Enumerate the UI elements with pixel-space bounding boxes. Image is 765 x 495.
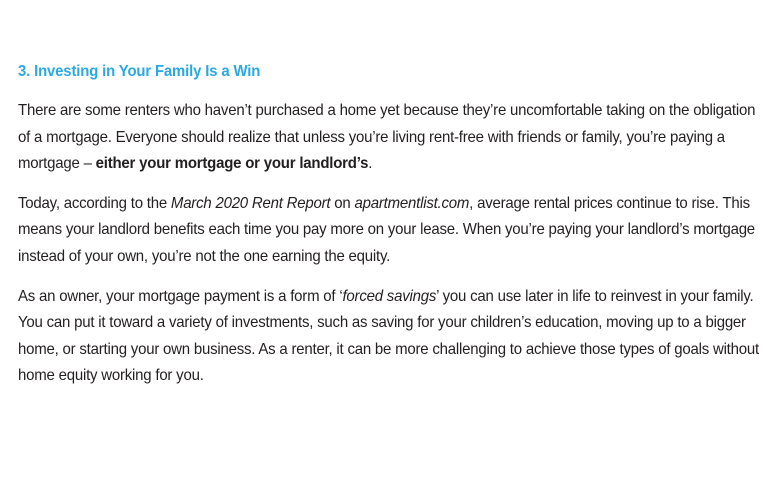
text-run-normal: As an owner, your mortgage payment is a … xyxy=(18,288,342,305)
document-page: 3. Investing in Your Family Is a Win The… xyxy=(0,0,765,495)
body-paragraph-2: Today, according to the March 2020 Rent … xyxy=(18,191,761,271)
body-paragraph-3: As an owner, your mortgage payment is a … xyxy=(18,284,761,390)
section-heading: 3. Investing in Your Family Is a Win xyxy=(18,62,728,82)
text-run-normal: Today, according to the xyxy=(18,195,171,212)
text-run-italic: apartmentlist.com xyxy=(355,195,470,212)
text-run-normal: on xyxy=(330,195,354,212)
text-run-italic: forced savings xyxy=(342,288,436,305)
text-run-normal: . xyxy=(368,155,372,172)
text-run-bold: either your mortgage or your landlord’s xyxy=(96,155,369,172)
text-run-italic: March 2020 Rent Report xyxy=(171,195,330,212)
body-paragraph-1: There are some renters who haven’t purch… xyxy=(18,98,761,178)
document-body: 3. Investing in Your Family Is a Win The… xyxy=(18,62,758,390)
